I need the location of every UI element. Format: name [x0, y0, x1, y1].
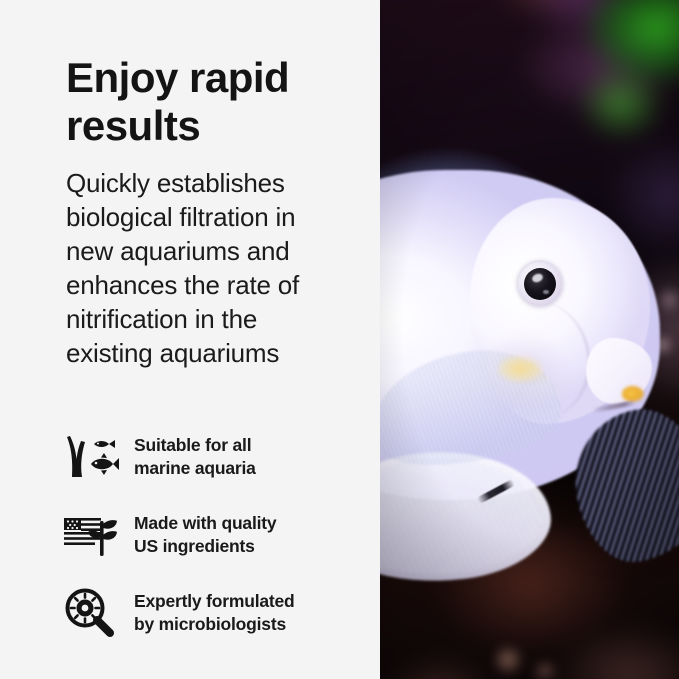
list-item: Made with quality US ingredients	[58, 496, 358, 574]
pectoral-fin-base	[498, 356, 542, 382]
seaweed-fish-icon	[58, 429, 122, 485]
list-item-label: Expertly formulated by microbiologists	[134, 590, 295, 636]
description-text: Quickly establishes biological filtratio…	[66, 166, 344, 370]
list-item: Suitable for all marine aquaria	[58, 418, 358, 496]
tang-fish	[380, 0, 679, 679]
list-item-label: Suitable for all marine aquaria	[134, 434, 256, 480]
eye-highlight-secondary	[543, 290, 549, 294]
list-item-label: Made with quality US ingredients	[134, 512, 276, 558]
page-title: Enjoy rapid results	[66, 54, 356, 150]
feature-list: Suitable for all marine aquaria	[58, 418, 358, 652]
list-item: Expertly formulated by microbiologists	[58, 574, 358, 652]
us-flag-plant-icon	[58, 507, 122, 563]
product-photo	[380, 0, 679, 679]
text-panel: Enjoy rapid results Quickly establishes …	[0, 0, 380, 679]
magnifier-microbe-icon	[58, 585, 122, 641]
product-feature-banner: Enjoy rapid results Quickly establishes …	[0, 0, 679, 679]
